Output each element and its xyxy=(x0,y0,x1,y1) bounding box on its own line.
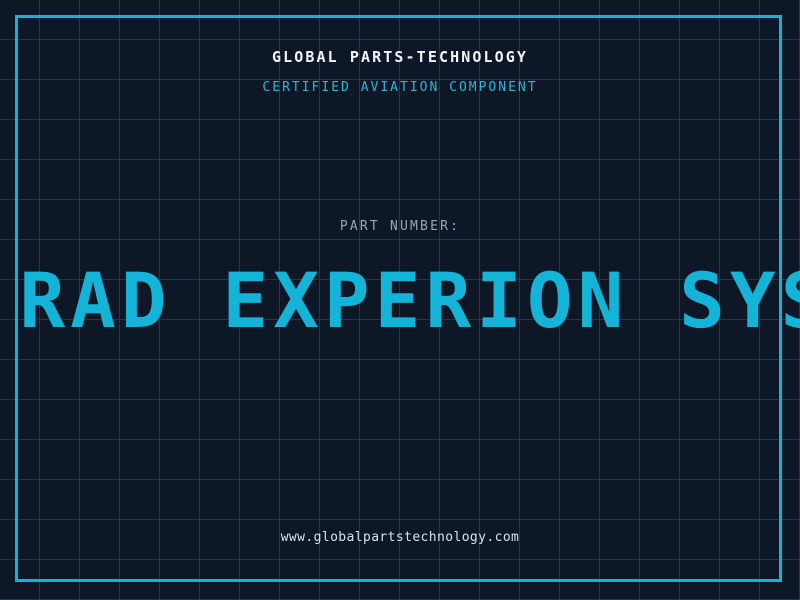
part-number-value-container: D RAD EXPERION SYST xyxy=(0,258,800,344)
part-number-value: D RAD EXPERION SYST xyxy=(0,258,800,344)
card-content: GLOBAL PARTS-TECHNOLOGY CERTIFIED AVIATI… xyxy=(0,0,800,600)
certification-subtitle: CERTIFIED AVIATION COMPONENT xyxy=(0,80,800,95)
website-url: www.globalpartstechnology.com xyxy=(0,530,800,545)
blueprint-part-card: GLOBAL PARTS-TECHNOLOGY CERTIFIED AVIATI… xyxy=(0,0,800,600)
part-number-label: PART NUMBER: xyxy=(0,219,800,234)
company-title: GLOBAL PARTS-TECHNOLOGY xyxy=(0,48,800,66)
